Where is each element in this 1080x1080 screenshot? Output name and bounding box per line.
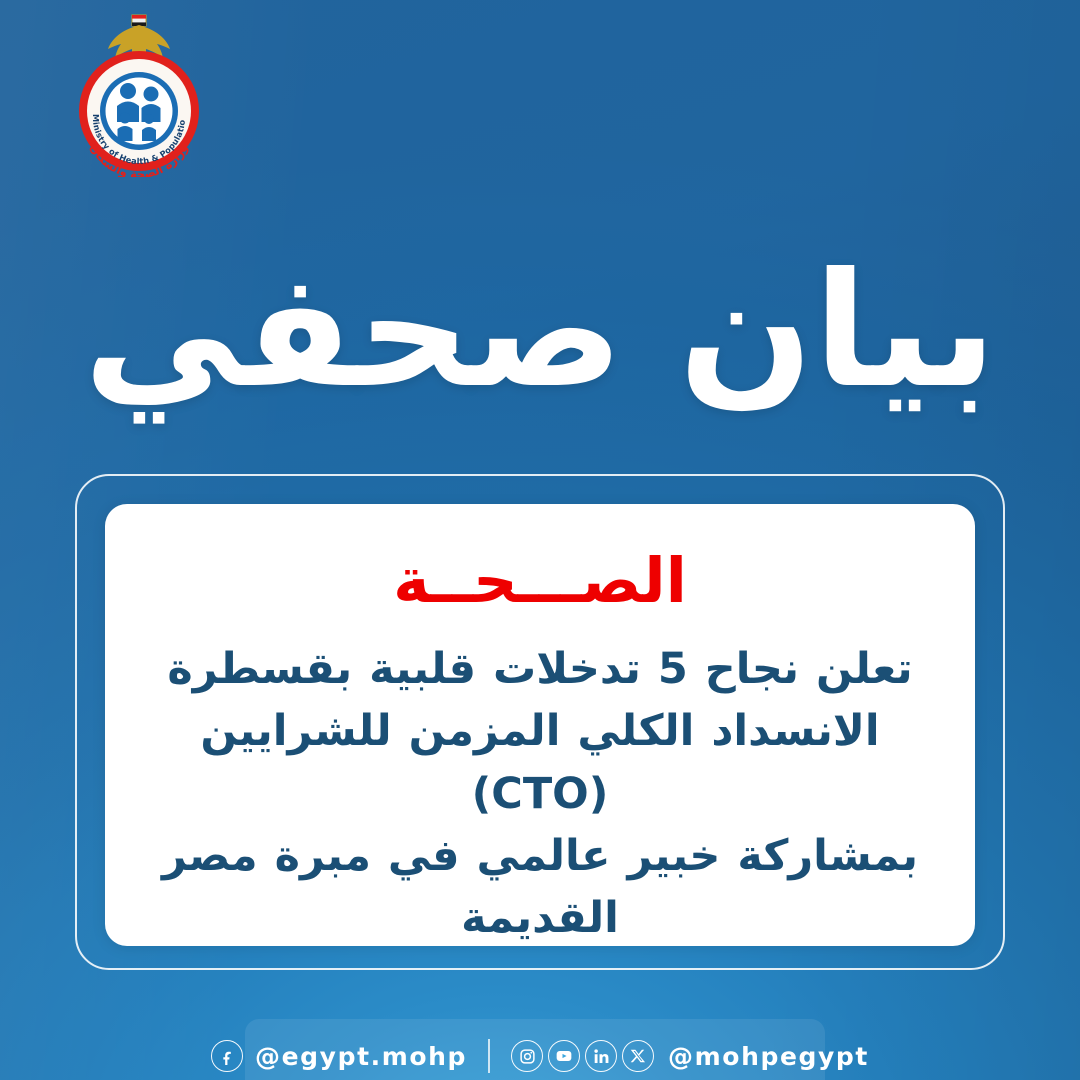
linkedin-icon[interactable] — [585, 1040, 617, 1072]
card-body-line-4: القديمة — [149, 887, 931, 949]
statement-card: الصـــحــة تعلن نجاح 5 تدخلات قلبية بقسط… — [105, 504, 975, 946]
other-social-handle[interactable]: @mohpegypt — [668, 1042, 869, 1071]
card-body-line-3: بمشاركة خبير عالمي في مبرة مصر — [149, 825, 931, 887]
card-kicker: الصـــحــة — [149, 550, 931, 612]
x-twitter-icon[interactable] — [622, 1040, 654, 1072]
social-icon-row — [511, 1040, 654, 1072]
ministry-logo: مصر Mini — [63, 12, 215, 177]
social-footer: @egypt.mohp — [0, 1032, 1080, 1080]
facebook-handle[interactable]: @egypt.mohp — [255, 1042, 467, 1071]
press-statement-poster: مصر Mini — [0, 0, 1080, 1080]
facebook-icon[interactable] — [211, 1040, 243, 1072]
footer-divider — [488, 1039, 490, 1073]
youtube-icon[interactable] — [548, 1040, 580, 1072]
facebook-group[interactable]: @egypt.mohp — [211, 1040, 467, 1072]
card-body-line-1: تعلن نجاح 5 تدخلات قلبية بقسطرة — [149, 638, 931, 700]
instagram-icon[interactable] — [511, 1040, 543, 1072]
page-title: بيان صحفي — [0, 246, 1080, 417]
card-body-line-2: الانسداد الكلي المزمن للشرايين (CTO) — [149, 700, 931, 825]
